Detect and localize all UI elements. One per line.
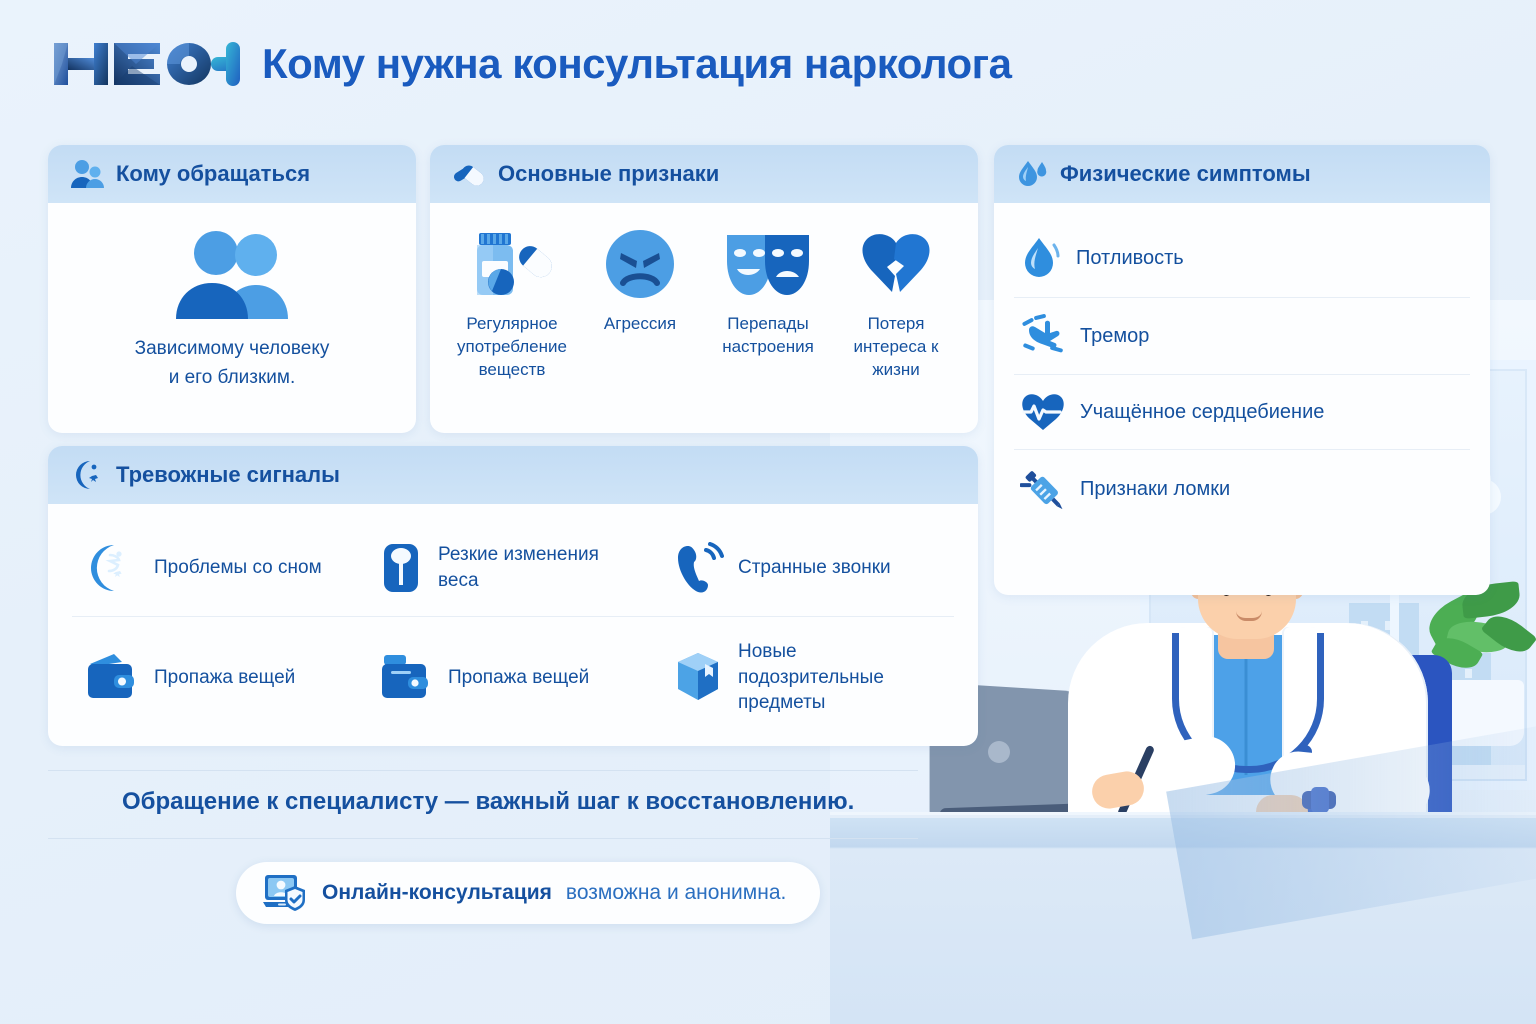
list-item: Признаки ломки: [1014, 450, 1470, 528]
alarm-item-label: Пропажа вещей: [154, 665, 295, 691]
page-header: Кому нужна консультация нарколога: [48, 38, 1012, 90]
online-consultation-badge[interactable]: Онлайн-консультация возможна и анонимна.: [236, 862, 820, 924]
card-who-body: Зависимому человеку и его близким.: [48, 203, 416, 410]
card-phys-title: Физические симптомы: [1060, 161, 1311, 187]
alarm-item-label: Новые подозрительные предметы: [738, 639, 938, 716]
card-who-text-line2: и его близким.: [135, 364, 330, 393]
page-title: Кому нужна консультация нарколога: [262, 40, 1012, 88]
card-physical-symptoms: Физические симптомы Потливость: [994, 145, 1490, 595]
pills-icon: [452, 159, 486, 189]
card-who-header: Кому обращаться: [48, 145, 416, 203]
alarm-item-label: Странные звонки: [738, 555, 891, 581]
sign-label: Потеря интереса к жизни: [834, 313, 958, 382]
card-phys-header: Физические симптомы: [994, 145, 1490, 203]
alarm-item-label: Проблемы со сном: [154, 555, 322, 581]
card-signs-header: Основные признаки: [430, 145, 978, 203]
card-main-signs: Основные признаки: [430, 145, 978, 433]
footer-statement: Обращение к специалисту — важный шаг к в…: [122, 788, 854, 816]
sign-label: Регулярное употребление веществ: [450, 313, 574, 382]
alarm-item: Странные звонки: [660, 520, 954, 617]
alarm-grid: Проблемы со сном Резкие изменения веса: [66, 514, 960, 738]
signs-grid: Регулярное употребление веществ Агрессия: [450, 219, 958, 382]
list-item-label: Учащённое сердцебиение: [1080, 399, 1324, 425]
list-item: Учащённое сердцебиение: [1014, 375, 1470, 450]
list-item-label: Признаки ломки: [1080, 476, 1230, 502]
card-alarm-title: Тревожные сигналы: [116, 462, 340, 488]
alarm-item: Пропажа вещей: [72, 617, 366, 738]
heart-pulse-icon: [1020, 391, 1066, 433]
alarm-item: Новые подозрительные предметы: [660, 617, 954, 738]
alarm-item: Проблемы со сном: [72, 520, 366, 617]
weight-scale-icon: [378, 542, 424, 594]
footer-divider-bottom: [48, 838, 918, 839]
list-item: Потливость: [1014, 219, 1470, 298]
moon-sleep-icon: [84, 542, 140, 594]
alarm-item-label: Пропажа вещей: [448, 665, 589, 691]
shaking-hand-icon: [1020, 314, 1066, 358]
wallet-open-icon: [378, 652, 434, 702]
theater-masks-icon: [721, 227, 815, 301]
crescent-moon-icon: [70, 459, 104, 491]
physical-symptom-list: Потливость Тремор: [1014, 219, 1470, 528]
angry-face-icon: [597, 227, 683, 301]
sign-label: Агрессия: [604, 313, 676, 336]
card-signs-title: Основные признаки: [498, 161, 719, 187]
list-item-label: Тремор: [1080, 323, 1149, 349]
list-item: Тремор: [1014, 298, 1470, 375]
sign-item: Агрессия: [578, 227, 702, 382]
two-people-icon: [168, 229, 296, 321]
list-item-label: Потливость: [1076, 245, 1184, 271]
card-alarm-header: Тревожные сигналы: [48, 446, 978, 504]
card-phys-body: Потливость Тремор: [994, 203, 1490, 546]
water-drops-icon: [1016, 159, 1048, 189]
infographic-canvas: Кому нужна консультация нарколога Кому о…: [0, 0, 1536, 1024]
alarm-item-label: Резкие изменения веса: [438, 542, 644, 593]
sign-item: Регулярное употребление веществ: [450, 227, 574, 382]
brand-logo: [48, 38, 240, 90]
card-alarm-body: Проблемы со сном Резкие изменения веса: [48, 504, 978, 746]
phone-call-icon: [672, 542, 724, 594]
sign-item: Потеря интереса к жизни: [834, 227, 958, 382]
wallet-icon: [84, 652, 140, 702]
package-box-icon: [672, 651, 724, 703]
pill-bottle-icon: [469, 227, 555, 301]
droplet-icon: [1020, 235, 1062, 281]
card-who-text: Зависимому человеку и его близким.: [135, 335, 330, 392]
card-who-title: Кому обращаться: [116, 161, 310, 187]
card-who-to-contact: Кому обращаться Зависимому человеку и ег…: [48, 145, 416, 433]
pill-strong-text: Онлайн-консультация: [322, 881, 552, 905]
syringe-icon: [1020, 466, 1066, 512]
card-who-text-line1: Зависимому человеку: [135, 335, 330, 364]
online-consultation-icon: [262, 872, 308, 914]
card-signs-body: Регулярное употребление веществ Агрессия: [430, 203, 978, 400]
alarm-item: Пропажа вещей: [366, 617, 660, 738]
sign-label: Перепады настроения: [706, 313, 830, 359]
card-alarm-signals: Тревожные сигналы Проблемы со сном: [48, 446, 978, 746]
alarm-item: Резкие изменения веса: [366, 520, 660, 617]
pill-soft-text: возможна и анонимна.: [566, 881, 786, 905]
people-icon: [70, 159, 104, 189]
broken-heart-icon: [853, 227, 939, 301]
sign-item: Перепады настроения: [706, 227, 830, 382]
footer-divider-top: [48, 770, 918, 771]
